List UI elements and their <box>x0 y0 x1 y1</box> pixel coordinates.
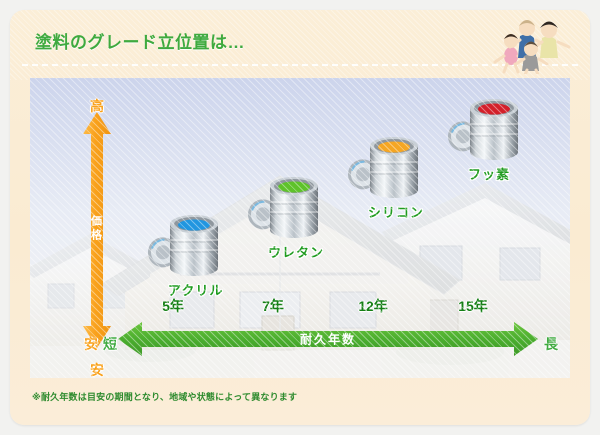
paint-can-label: フッ素 <box>468 164 510 183</box>
three-cartoon-people-icon <box>484 12 576 74</box>
paint-surface <box>378 142 410 153</box>
footnote-text: ※耐久年数は目安の期間となり、地域や状態によって異なります <box>32 390 297 403</box>
year-label-urethane: 7年 <box>238 296 308 316</box>
price-axis-bottom-label: 安 <box>82 360 112 378</box>
paint-can-fluorine[interactable]: フッ素 <box>442 90 538 168</box>
durability-axis-label: 耐久年数 <box>118 331 538 348</box>
paint-can-acrylic[interactable]: アクリル <box>142 206 238 284</box>
page-title: 塗料のグレード立位置は… <box>35 28 245 53</box>
info-card: 塗料のグレード立位置は… <box>10 10 590 425</box>
chart-panel: 高 価格 安 <box>30 78 570 378</box>
price-axis-label: 価格 <box>89 215 105 243</box>
paint-can-label: ウレタン <box>268 242 324 261</box>
paint-surface <box>178 220 210 231</box>
year-label-silicone: 12年 <box>338 296 408 316</box>
paint-surface <box>278 182 310 193</box>
durability-axis-left-label: 短 <box>103 334 117 354</box>
durability-axis-right-label: 長 <box>544 334 558 354</box>
durability-axis: 耐久年数 <box>118 322 538 356</box>
paint-can-silicone[interactable]: シリコン <box>342 128 438 206</box>
year-label-acrylic: 5年 <box>138 296 208 316</box>
price-axis: 高 価格 安 <box>82 98 112 360</box>
paint-surface <box>478 104 510 115</box>
year-label-fluorine: 15年 <box>438 296 508 316</box>
paint-can-urethane[interactable]: ウレタン <box>242 168 338 246</box>
price-bottom-cap-label: 安 <box>84 334 98 354</box>
paint-can-label: シリコン <box>368 202 424 221</box>
